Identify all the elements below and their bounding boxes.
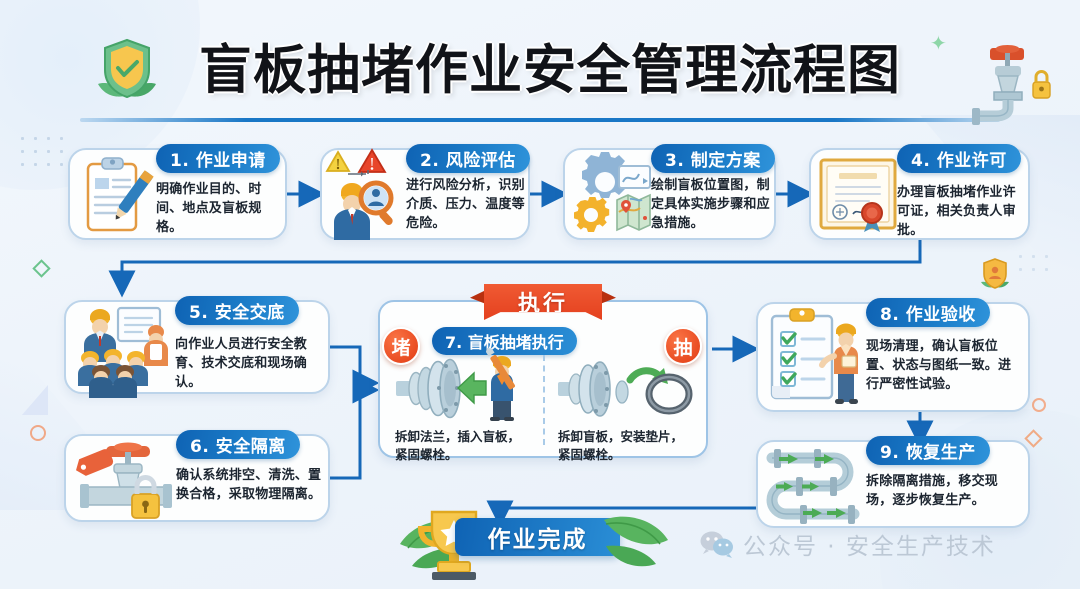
flowchart-poster: ✦ ◇ 盲板抽堵作业安全管理流程图 bbox=[0, 0, 1080, 589]
checklist-inspector-icon bbox=[762, 304, 870, 410]
execution-right-caption: 拆卸盲板，安装垫片，紧固螺栓。 bbox=[558, 428, 686, 463]
connector-step6-to-exec bbox=[330, 390, 372, 478]
step-5-card[interactable]: 5. 安全交底 向作业人员进行安全教育、技术交底和现场确认。 bbox=[64, 300, 330, 394]
shield-check-icon bbox=[90, 36, 164, 108]
watermark-text: 公众号 · 安全生产技术 bbox=[743, 527, 996, 561]
title-underline bbox=[80, 118, 1000, 122]
dot-grid-decoration bbox=[16, 132, 68, 172]
step-2-title: 2. 风险评估 bbox=[406, 144, 530, 173]
orange-diamond-decoration bbox=[1024, 429, 1042, 447]
pipeline-flow-icon bbox=[762, 444, 874, 526]
step-1-card[interactable]: 1. 作业申请 明确作业目的、时间、地点及盲板规格。 bbox=[68, 148, 287, 240]
flange-remove-blind-icon bbox=[556, 358, 696, 420]
connector-step4-to-step5 bbox=[122, 240, 920, 290]
step-2-card[interactable]: 2. 风险评估 进行风险分析，识别介质、压力、温度等危险。 bbox=[320, 148, 530, 240]
step-4-title: 4. 作业许可 bbox=[897, 144, 1021, 173]
risk-warning-magnifier-icon bbox=[324, 148, 410, 240]
flange-insert-blind-icon bbox=[394, 355, 539, 421]
laurel-leaf-right-icon bbox=[600, 506, 678, 572]
shield-person-decoration bbox=[975, 256, 1015, 294]
step-8-title: 8. 作业验收 bbox=[866, 298, 990, 327]
step-2-desc: 进行风险分析，识别介质、压力、温度等危险。 bbox=[406, 177, 528, 234]
step-6-desc: 确认系统排空、清洗、置换合格，采取物理隔离。 bbox=[176, 467, 324, 505]
execution-left-caption: 拆卸法兰，插入盲板，紧固螺栓。 bbox=[395, 428, 525, 463]
valve-lock-tag-icon bbox=[72, 438, 177, 522]
step-9-card[interactable]: 9. 恢复生产 拆除隔离措施，移交现场，逐步恢复生产。 bbox=[756, 440, 1030, 528]
step-1-desc: 明确作业目的、时间、地点及盲板规格。 bbox=[156, 181, 280, 238]
step-6-card[interactable]: 6. 安全隔离 确认系统排空、清洗、置换合格，采取物理隔离。 bbox=[64, 434, 330, 522]
wechat-icon bbox=[700, 530, 734, 558]
step-3-title: 3. 制定方案 bbox=[651, 144, 775, 173]
step-8-desc: 现场清理，确认盲板位置、状态与图纸一致。进行严密性试验。 bbox=[866, 338, 1021, 395]
finish-badge: 作业完成 bbox=[455, 518, 620, 556]
step-3-card[interactable]: 3. 制定方案 绘制盲板位置图，制定具体实施步骤和应急措施。 bbox=[563, 148, 776, 240]
blue-triangle-decoration bbox=[22, 385, 48, 415]
watermark: 公众号 · 安全生产技术 bbox=[700, 527, 996, 561]
step-5-desc: 向作业人员进行安全教育、技术交底和现场确认。 bbox=[175, 336, 325, 393]
orange-ring-decoration bbox=[30, 425, 46, 441]
step-1-title: 1. 作业申请 bbox=[156, 144, 280, 173]
clipboard-pen-icon bbox=[76, 154, 156, 238]
green-diamond-decoration bbox=[32, 259, 50, 277]
execution-divider bbox=[543, 355, 545, 445]
step-8-card[interactable]: 8. 作业验收 现场清理，确认盲板位置、状态与图纸一致。进行严密性试验。 bbox=[756, 302, 1030, 412]
step-6-title: 6. 安全隔离 bbox=[176, 430, 300, 459]
orange-ring-decoration-right bbox=[1032, 398, 1046, 412]
poster-header: 盲板抽堵作业安全管理流程图 bbox=[0, 0, 1080, 124]
certificate-seal-icon bbox=[817, 156, 901, 234]
step-5-title: 5. 安全交底 bbox=[175, 296, 299, 325]
page-title: 盲板抽堵作业安全管理流程图 bbox=[160, 28, 940, 104]
step-4-card[interactable]: 4. 作业许可 办理盲板抽堵作业许可证，相关负责人审批。 bbox=[809, 148, 1030, 240]
dot-grid-decoration-right bbox=[1014, 250, 1054, 280]
step-3-desc: 绘制盲板位置图，制定具体实施步骤和应急措施。 bbox=[651, 177, 771, 234]
execution-title: 7. 盲板抽堵执行 bbox=[432, 327, 577, 355]
gears-map-icon bbox=[569, 152, 655, 240]
connector-step5-to-exec bbox=[330, 347, 372, 383]
step-9-desc: 拆除隔离措施，移交现场，逐步恢复生产。 bbox=[866, 473, 1021, 511]
step-4-desc: 办理盲板抽堵作业许可证，相关负责人审批。 bbox=[897, 184, 1025, 241]
step-9-title: 9. 恢复生产 bbox=[866, 436, 990, 465]
safety-briefing-icon bbox=[70, 300, 180, 398]
pipe-valve-icon bbox=[964, 22, 1056, 118]
